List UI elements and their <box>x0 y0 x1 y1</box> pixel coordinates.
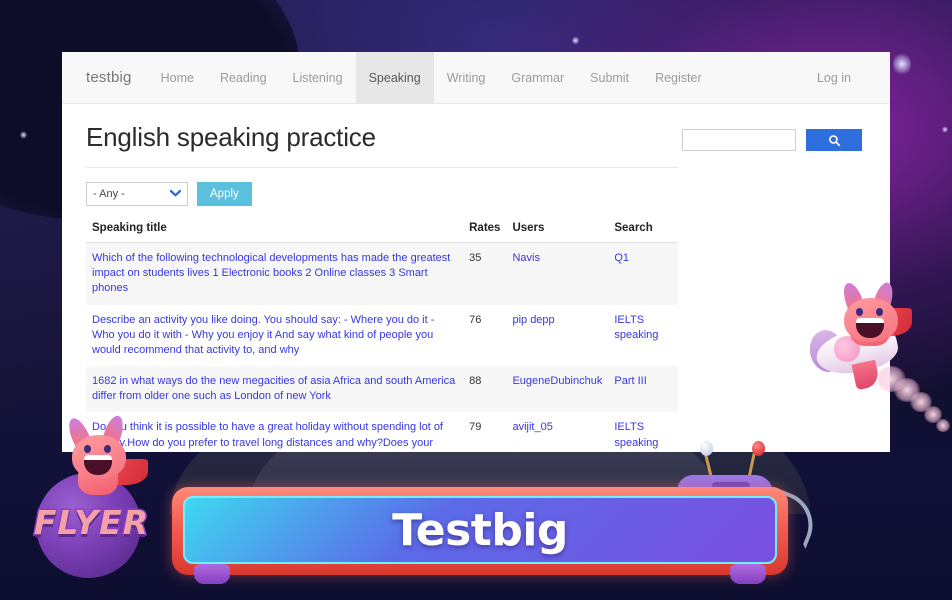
column-header-search[interactable]: Search <box>608 222 678 243</box>
cell-title: Describe an activity you like doing. You… <box>86 305 463 367</box>
search-tag-link[interactable]: Part III <box>614 375 646 387</box>
table-head: Speaking title Rates Users Search <box>86 222 678 243</box>
cell-search: Q1 <box>608 243 678 305</box>
antenna-ball-left <box>700 441 713 456</box>
page-title: English speaking practice <box>86 122 678 168</box>
table-header-row: Speaking title Rates Users Search <box>86 222 678 243</box>
search-icon <box>828 134 841 147</box>
user-link[interactable]: Navis <box>512 252 540 264</box>
page-header: English speaking practice <box>86 122 862 168</box>
cell-rates: 76 <box>463 305 506 367</box>
speaking-title-link[interactable]: 1682 in what ways do the new megacities … <box>92 375 455 402</box>
cell-search: IELTS speaking <box>608 412 678 452</box>
cell-title: 1682 in what ways do the new megacities … <box>86 366 463 412</box>
speaking-title-link[interactable]: Describe an activity you like doing. You… <box>92 314 434 356</box>
search-tag-link[interactable]: IELTS speaking <box>614 314 658 341</box>
cell-search: Part III <box>608 366 678 412</box>
table-body: Which of the following technological dev… <box>86 243 678 453</box>
rocket-trail <box>936 419 950 432</box>
cell-title: Which of the following technological dev… <box>86 243 463 305</box>
star-glow <box>572 36 579 45</box>
website-card: testbig Home Reading Listening Speaking … <box>62 52 890 452</box>
star-glow <box>20 131 27 139</box>
page-body: English speaking practice - Any - <box>62 104 890 452</box>
star-glow <box>893 52 911 76</box>
antenna-ball-right <box>752 441 765 456</box>
search-tag-link[interactable]: IELTS speaking <box>614 421 658 448</box>
bunny-eye-left <box>84 445 91 453</box>
chevron-down-icon <box>170 189 181 200</box>
cell-user: pip depp <box>506 305 608 367</box>
table-row: Which of the following technological dev… <box>86 243 678 305</box>
search-tag-link[interactable]: Q1 <box>614 252 629 264</box>
star-glow <box>942 126 948 133</box>
cell-search: IELTS speaking <box>608 305 678 367</box>
banner-inner-panel: Testbig <box>183 496 777 564</box>
apply-button[interactable]: Apply <box>197 182 252 206</box>
nav-link-register[interactable]: Register <box>642 52 715 103</box>
navbar: testbig Home Reading Listening Speaking … <box>62 52 890 104</box>
banner-foot-right <box>730 564 766 584</box>
nav-link-submit[interactable]: Submit <box>577 52 642 103</box>
bunny-eye-right <box>104 445 111 453</box>
nav-link-reading[interactable]: Reading <box>207 52 280 103</box>
cell-rates: 79 <box>463 412 506 452</box>
navbar-right: Log in <box>804 52 890 103</box>
bunny-rider <box>834 282 904 342</box>
table-row: 1682 in what ways do the new megacities … <box>86 366 678 412</box>
category-select-value: - Any - <box>93 188 125 200</box>
column-header-users[interactable]: Users <box>506 222 608 243</box>
column-header-rates[interactable]: Rates <box>463 222 506 243</box>
cell-user: Navis <box>506 243 608 305</box>
nav-link-speaking[interactable]: Speaking <box>356 52 434 103</box>
search-block <box>682 122 862 151</box>
cell-rates: 35 <box>463 243 506 305</box>
rocket-fin <box>852 360 881 390</box>
nav-link-writing[interactable]: Writing <box>434 52 499 103</box>
flyer-badge: FLYER <box>8 415 173 575</box>
nav-links: Home Reading Listening Speaking Writing … <box>148 52 715 103</box>
login-link[interactable]: Log in <box>804 52 864 103</box>
brand-logo[interactable]: testbig <box>86 52 148 103</box>
banner-foot-left <box>194 564 230 584</box>
flyer-bunny-mascot <box>64 415 144 505</box>
table-row: Describe an activity you like doing. You… <box>86 305 678 367</box>
user-link[interactable]: pip depp <box>512 314 554 326</box>
user-link[interactable]: EugeneDubinchuk <box>512 375 602 387</box>
rocket-bunny-mascot <box>810 282 952 432</box>
game-banner: Testbig <box>172 487 788 575</box>
search-input[interactable] <box>682 129 796 151</box>
user-link[interactable]: avijit_05 <box>512 421 552 433</box>
table-row: Do you think it is possible to have a gr… <box>86 412 678 452</box>
column-header-title[interactable]: Speaking title <box>86 222 463 243</box>
bunny-eye-right <box>876 308 883 316</box>
bunny-eye-left <box>856 308 863 316</box>
nav-link-home[interactable]: Home <box>148 52 207 103</box>
title-column: English speaking practice <box>86 122 678 168</box>
search-button[interactable] <box>806 129 862 151</box>
nav-link-grammar[interactable]: Grammar <box>498 52 577 103</box>
results-table: Speaking title Rates Users Search Which … <box>86 222 678 452</box>
cell-rates: 88 <box>463 366 506 412</box>
speaking-title-link[interactable]: Which of the following technological dev… <box>92 252 450 294</box>
banner-title-text: Testbig <box>392 505 568 556</box>
filter-row: - Any - Apply <box>86 182 862 206</box>
flyer-logo-text: FLYER <box>14 503 169 542</box>
nav-link-listening[interactable]: Listening <box>280 52 356 103</box>
cell-user: EugeneDubinchuk <box>506 366 608 412</box>
cell-user: avijit_05 <box>506 412 608 452</box>
category-select[interactable]: - Any - <box>86 182 188 206</box>
